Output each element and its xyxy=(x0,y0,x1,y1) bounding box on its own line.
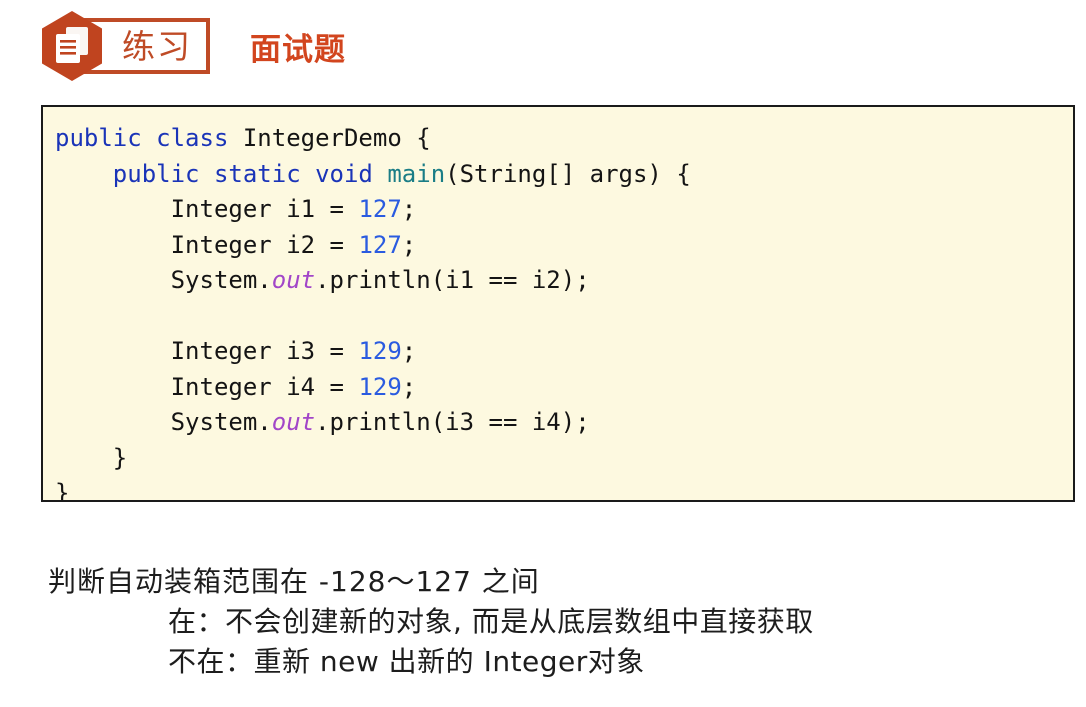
page-title: 面试题 xyxy=(250,24,346,69)
code-line: System.out.println(i1 == i2); xyxy=(55,263,1073,299)
code-block: public class IntegerDemo { public static… xyxy=(41,105,1075,502)
code-token xyxy=(55,160,113,188)
code-token: ; xyxy=(402,337,416,365)
code-token: Integer i2 = xyxy=(55,231,358,259)
note-line-out-of-range: 不在：重新 new 出新的 Integer对象 xyxy=(168,642,1086,682)
code-token: public class xyxy=(55,124,228,152)
code-token: public static void xyxy=(113,160,373,188)
code-line: } xyxy=(55,441,1073,477)
code-line xyxy=(55,299,1073,335)
practice-badge: 练习 xyxy=(40,18,210,74)
code-token: 127 xyxy=(358,195,401,223)
page-header: 练习 面试题 xyxy=(40,11,346,81)
code-token: 129 xyxy=(358,373,401,401)
practice-badge-label: 练习 xyxy=(122,30,192,63)
code-content: public class IntegerDemo { public static… xyxy=(43,107,1073,502)
code-line: Integer i1 = 127; xyxy=(55,192,1073,228)
code-line: public static void main(String[] args) { xyxy=(55,157,1073,193)
code-token: (String[] args) { xyxy=(445,160,691,188)
code-line: Integer i2 = 127; xyxy=(55,228,1073,264)
code-token: 127 xyxy=(358,231,401,259)
handwritten-notes: 判断自动装箱范围在 -128～127 之间 在：不会创建新的对象, 而是从底层数… xyxy=(0,562,1086,682)
code-token: } xyxy=(55,444,127,472)
code-token: } xyxy=(55,479,69,502)
code-token: Integer i3 = xyxy=(55,337,358,365)
note-line-in-range: 在：不会创建新的对象, 而是从底层数组中直接获取 xyxy=(168,602,1086,642)
code-line: System.out.println(i3 == i4); xyxy=(55,405,1073,441)
code-token: System. xyxy=(55,408,272,436)
code-line: } xyxy=(55,476,1073,502)
code-token: out xyxy=(272,266,315,294)
code-token: Integer i4 = xyxy=(55,373,358,401)
code-token: System. xyxy=(55,266,272,294)
code-token: .println(i1 == i2); xyxy=(315,266,590,294)
code-token: 129 xyxy=(358,337,401,365)
code-line: Integer i3 = 129; xyxy=(55,334,1073,370)
code-token: ; xyxy=(402,373,416,401)
code-token: main xyxy=(387,160,445,188)
code-token: Integer i1 = xyxy=(55,195,358,223)
code-token: .println(i3 == i4); xyxy=(315,408,590,436)
document-hexagon-icon xyxy=(40,10,104,82)
note-line-range: 判断自动装箱范围在 -128～127 之间 xyxy=(48,562,1086,602)
code-token: ; xyxy=(402,195,416,223)
code-token: IntegerDemo { xyxy=(228,124,430,152)
code-line: public class IntegerDemo { xyxy=(55,121,1073,157)
code-token: out xyxy=(272,408,315,436)
code-line: Integer i4 = 129; xyxy=(55,370,1073,406)
code-token: ; xyxy=(402,231,416,259)
code-token xyxy=(373,160,387,188)
